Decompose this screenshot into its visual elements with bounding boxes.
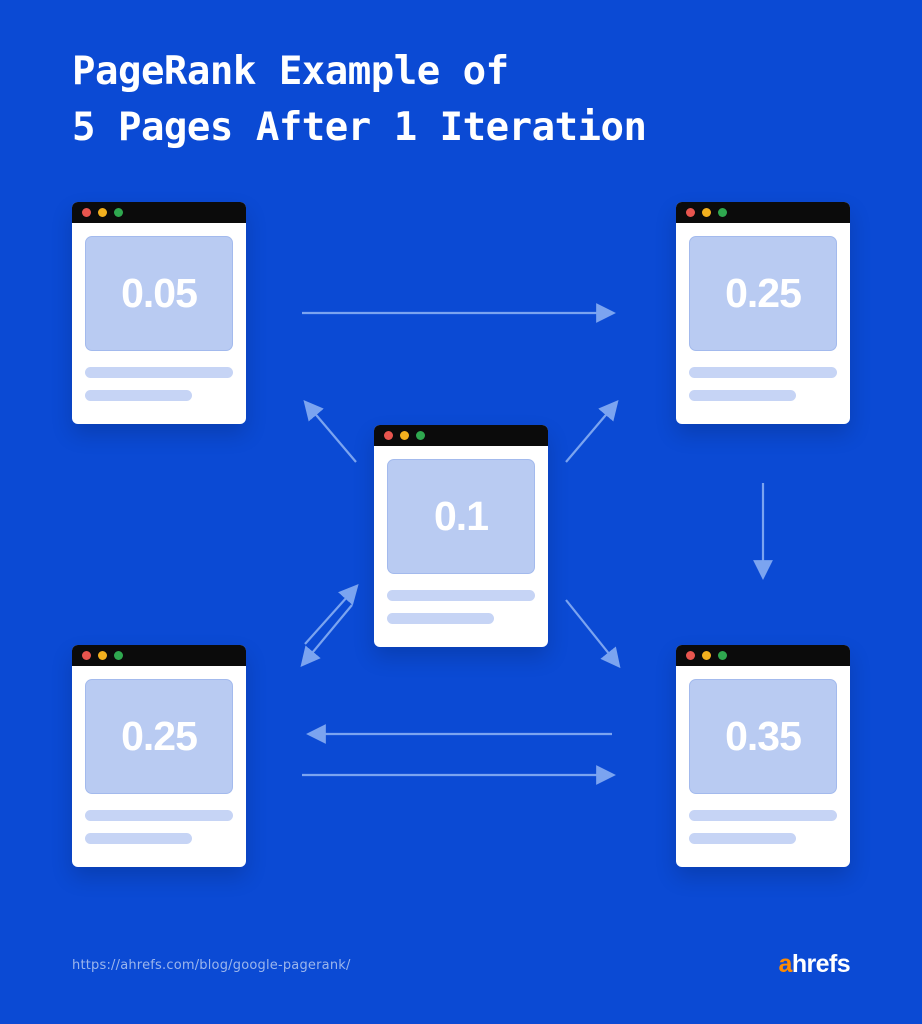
close-dot-icon[interactable] [384, 431, 393, 440]
arrow-center-to-bottom-left [303, 605, 352, 664]
pagerank-value-box: 0.1 [387, 459, 535, 574]
maximize-dot-icon[interactable] [718, 208, 727, 217]
close-dot-icon[interactable] [686, 208, 695, 217]
minimize-dot-icon[interactable] [702, 208, 711, 217]
arrow-center-to-top-left [306, 403, 356, 462]
text-placeholder-line [85, 367, 233, 378]
logo-wordmark: hrefs [792, 950, 850, 978]
browser-titlebar [676, 202, 850, 223]
text-placeholder-group [676, 351, 850, 417]
logo-accent-letter: a [779, 950, 792, 978]
pagerank-value: 0.25 [121, 713, 197, 760]
minimize-dot-icon[interactable] [702, 651, 711, 660]
minimize-dot-icon[interactable] [98, 651, 107, 660]
page-title: PageRank Example of 5 Pages After 1 Iter… [72, 44, 647, 156]
page-card-top-left[interactable]: 0.05 [72, 202, 246, 424]
close-dot-icon[interactable] [686, 651, 695, 660]
text-placeholder-group [374, 574, 548, 640]
arrow-bottom-left-to-center [305, 587, 356, 644]
text-placeholder-line [85, 390, 192, 401]
maximize-dot-icon[interactable] [718, 651, 727, 660]
minimize-dot-icon[interactable] [98, 208, 107, 217]
page-card-top-right[interactable]: 0.25 [676, 202, 850, 424]
page-card-center[interactable]: 0.1 [374, 425, 548, 647]
arrow-center-to-top-right [566, 403, 616, 462]
text-placeholder-group [676, 794, 850, 860]
card-body: 0.1 [374, 446, 548, 574]
browser-titlebar [374, 425, 548, 446]
text-placeholder-line [387, 590, 535, 601]
text-placeholder-line [85, 810, 233, 821]
infographic-canvas: PageRank Example of 5 Pages After 1 Iter… [0, 0, 922, 1024]
pagerank-value-box: 0.05 [85, 236, 233, 351]
maximize-dot-icon[interactable] [114, 208, 123, 217]
close-dot-icon[interactable] [82, 208, 91, 217]
source-url[interactable]: https://ahrefs.com/blog/google-pagerank/ [72, 958, 351, 973]
card-body: 0.05 [72, 223, 246, 351]
maximize-dot-icon[interactable] [114, 651, 123, 660]
text-placeholder-line [689, 390, 796, 401]
pagerank-value: 0.05 [121, 270, 197, 317]
text-placeholder-group [72, 794, 246, 860]
browser-titlebar [676, 645, 850, 666]
close-dot-icon[interactable] [82, 651, 91, 660]
card-body: 0.35 [676, 666, 850, 794]
page-card-bottom-left[interactable]: 0.25 [72, 645, 246, 867]
ahrefs-logo[interactable]: ahrefs [779, 952, 850, 977]
card-body: 0.25 [72, 666, 246, 794]
pagerank-value-box: 0.25 [689, 236, 837, 351]
pagerank-value-box: 0.25 [85, 679, 233, 794]
arrow-center-to-bottom-right [566, 600, 618, 665]
pagerank-value: 0.25 [725, 270, 801, 317]
text-placeholder-line [85, 833, 192, 844]
pagerank-value: 0.1 [434, 493, 488, 540]
browser-titlebar [72, 202, 246, 223]
text-placeholder-line [689, 367, 837, 378]
browser-titlebar [72, 645, 246, 666]
pagerank-value-box: 0.35 [689, 679, 837, 794]
minimize-dot-icon[interactable] [400, 431, 409, 440]
pagerank-value: 0.35 [725, 713, 801, 760]
maximize-dot-icon[interactable] [416, 431, 425, 440]
card-body: 0.25 [676, 223, 850, 351]
text-placeholder-line [387, 613, 494, 624]
text-placeholder-line [689, 833, 796, 844]
text-placeholder-group [72, 351, 246, 417]
page-card-bottom-right[interactable]: 0.35 [676, 645, 850, 867]
text-placeholder-line [689, 810, 837, 821]
